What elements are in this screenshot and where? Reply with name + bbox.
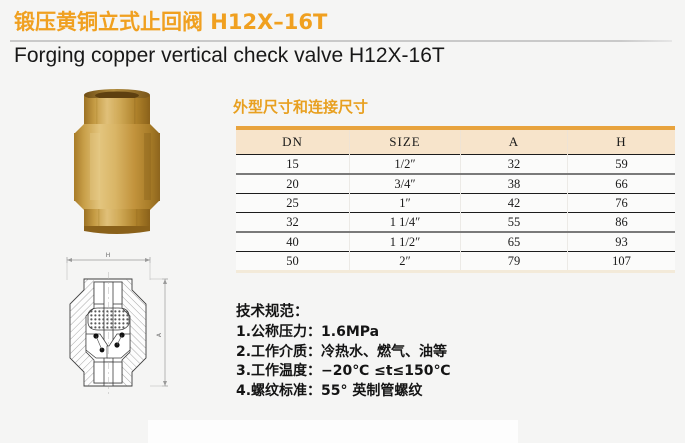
dimensions-table: DN SIZE A H 15 1/2″ 32 59 20 3/4″ 38 66 … <box>236 126 675 273</box>
tech-specs-title: 技术规范： <box>236 303 450 321</box>
title-divider <box>10 40 672 42</box>
column-header-size: SIZE <box>350 128 461 155</box>
cell-a: 38 <box>461 174 568 194</box>
cell-a: 65 <box>461 232 568 252</box>
column-header-dn: DN <box>236 128 350 155</box>
cell-a: 42 <box>461 194 568 213</box>
cell-dn: 25 <box>236 194 350 213</box>
column-header-h: H <box>568 128 676 155</box>
cell-size: 3/4″ <box>350 174 461 194</box>
valve-cross-section-svg: H A <box>22 246 222 406</box>
cell-size: 1 1/2″ <box>350 232 461 252</box>
cell-a: 32 <box>461 155 568 175</box>
brass-valve-illustration <box>52 86 202 241</box>
tech-spec-item-thread: 4.螺纹标准：55° 英制管螺纹 <box>236 382 450 402</box>
tech-spec-item-temperature: 3.工作温度：−20℃ ≤t≤150℃ <box>236 362 450 382</box>
column-header-a: A <box>461 128 568 155</box>
cell-h: 86 <box>568 213 676 233</box>
footer-band <box>148 420 518 443</box>
table-row: 25 1″ 42 76 <box>236 194 675 213</box>
cell-size: 1/2″ <box>350 155 461 175</box>
table-row: 20 3/4″ 38 66 <box>236 174 675 194</box>
cell-h: 93 <box>568 232 676 252</box>
cell-h: 66 <box>568 174 676 194</box>
page-title-chinese: 锻压黄铜立式止回阀 H12X–16T <box>14 6 327 36</box>
table-row: 40 1 1/2″ 65 93 <box>236 232 675 252</box>
table-row: 15 1/2″ 32 59 <box>236 155 675 175</box>
cell-a: 79 <box>461 252 568 272</box>
technical-drawing: H A <box>22 246 222 406</box>
table-row: 32 1 1/4″ 55 86 <box>236 213 675 233</box>
cell-dn: 50 <box>236 252 350 272</box>
product-photo <box>52 86 202 241</box>
product-spec-sheet: 锻压黄铜立式止回阀 H12X–16T Forging copper vertic… <box>0 0 685 443</box>
table-body: 15 1/2″ 32 59 20 3/4″ 38 66 25 1″ 42 76 … <box>236 155 675 272</box>
cell-size: 1″ <box>350 194 461 213</box>
cell-h: 76 <box>568 194 676 213</box>
cell-a: 55 <box>461 213 568 233</box>
table-row: 50 2″ 79 107 <box>236 252 675 272</box>
cell-size: 2″ <box>350 252 461 272</box>
page-title-english: Forging copper vertical check valve H12X… <box>14 44 445 68</box>
dimensions-section-heading: 外型尺寸和连接尺寸 <box>233 96 368 117</box>
svg-text:H: H <box>106 252 111 259</box>
cell-h: 107 <box>568 252 676 272</box>
cell-dn: 40 <box>236 232 350 252</box>
table-header-row: DN SIZE A H <box>236 128 675 155</box>
tech-specs-block: 技术规范： 1.公称压力：1.6MPa 2.工作介质：冷热水、燃气、油等 3.工… <box>236 303 450 401</box>
cell-size: 1 1/4″ <box>350 213 461 233</box>
cell-dn: 20 <box>236 174 350 194</box>
cell-dn: 32 <box>236 213 350 233</box>
cell-h: 59 <box>568 155 676 175</box>
cell-dn: 15 <box>236 155 350 175</box>
tech-spec-item-pressure: 1.公称压力：1.6MPa <box>236 323 450 343</box>
table-header: DN SIZE A H <box>236 128 675 155</box>
tech-spec-item-medium: 2.工作介质：冷热水、燃气、油等 <box>236 343 450 363</box>
svg-text:A: A <box>156 332 163 337</box>
